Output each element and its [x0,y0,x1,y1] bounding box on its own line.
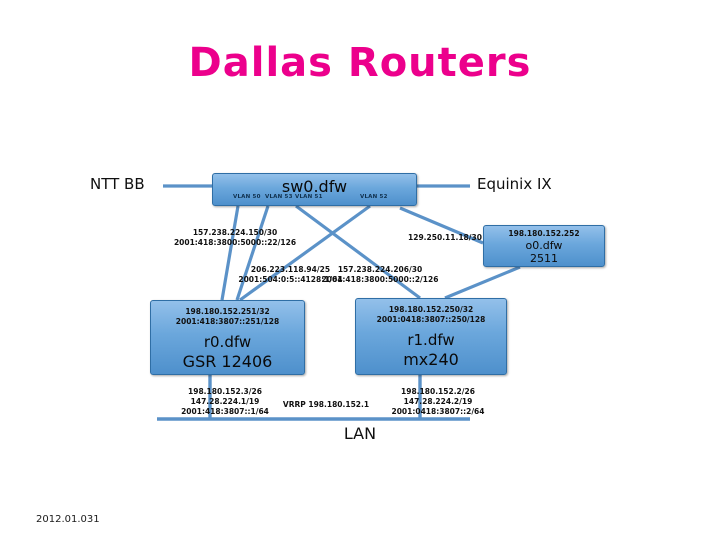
lan-label: LAN [0,424,720,443]
vlan-label-50: VLAN 50 [233,194,261,200]
lan-annotation-r1: 198.180.152.2/26 147.28.224.2/19 2001:04… [368,387,508,417]
link-annotation-ntt-bb-ipv4: 157.238.224.150/30 [165,228,305,238]
lan-annotation-r1-ipv4: 198.180.152.2/26 [368,387,508,397]
node-r1-name: r1.dfw [356,331,506,350]
link-annotation-ntt-bb-2: 157.238.224.206/30 2001:418:3800:5000::2… [315,265,445,285]
link-annotation-ntt-bb-2-ipv4: 157.238.224.206/30 [315,265,445,275]
node-sw0-dfw[interactable]: sw0.dfw VLAN 50 VLAN 53 VLAN 51 VLAN 52 [212,173,417,206]
vlan-label-52: VLAN 52 [360,194,388,200]
node-r1-ip-block: 198.180.152.250/32 2001:0418:3807::250/1… [356,299,506,325]
node-r0-ipv4: 198.180.152.251/32 [151,307,304,317]
link-annotation-ntt-bb: 157.238.224.150/30 2001:418:3800:5000::2… [165,228,305,248]
slide-canvas: Dallas Routers NTT BB Eq [0,0,720,540]
node-r0-ip-block: 198.180.152.251/32 2001:418:3807::251/12… [151,301,304,327]
node-r1-dfw[interactable]: 198.180.152.250/32 2001:0418:3807::250/1… [355,298,507,375]
vlan-label-51: VLAN 51 [295,194,323,200]
node-r1-ipv6: 2001:0418:3807::250/128 [356,315,506,325]
node-r0-model: GSR 12406 [151,352,304,372]
link-annotation-console-ipv4: 129.250.11.18/30 [397,233,493,243]
vlan-port-row: VLAN 50 VLAN 53 VLAN 51 VLAN 52 [213,194,418,206]
link-r1-to-o0 [445,267,520,298]
footer-date: 2012.01.031 [36,514,100,525]
node-o0-dfw[interactable]: 198.180.152.252 o0.dfw 2511 [483,225,605,267]
node-r0-dfw[interactable]: 198.180.152.251/32 2001:418:3807::251/12… [150,300,305,375]
lan-annotation-r1-ipv4-b: 147.28.224.2/19 [368,397,508,407]
node-r1-ipv4: 198.180.152.250/32 [356,305,506,315]
link-vlan50-to-r0 [222,206,238,300]
node-r0-ipv6: 2001:418:3807::251/128 [151,317,304,327]
link-annotation-ntt-bb-2-ipv6: 2001:418:3800:5000::2/126 [315,275,445,285]
node-o0-name: o0.dfw [484,239,604,252]
lan-annotation-r1-ipv6: 2001:0418:3807::2/64 [368,407,508,417]
lan-annotation-vrrp: VRRP 198.180.152.1 [272,400,380,410]
link-annotation-console: 129.250.11.18/30 [397,233,493,243]
link-vlan52-to-r0 [240,206,370,300]
vlan-label-53: VLAN 53 [265,194,293,200]
node-o0-model: 2511 [484,252,604,265]
external-label-equinix-ix: Equinix IX [477,175,552,193]
lan-annotation-r0-ipv4: 198.180.152.3/26 [160,387,290,397]
node-o0-ip: 198.180.152.252 [484,226,604,239]
external-label-ntt-bb: NTT BB [90,175,145,193]
lan-annotation-r0: 198.180.152.3/26 147.28.224.1/19 2001:41… [160,387,290,417]
lan-annotation-r0-ipv4-b: 147.28.224.1/19 [160,397,290,407]
node-r0-name: r0.dfw [151,333,304,352]
lan-annotation-r0-ipv6: 2001:418:3807::1/64 [160,407,290,417]
link-annotation-ntt-bb-ipv6: 2001:418:3800:5000::22/126 [165,238,305,248]
node-r1-model: mx240 [356,350,506,370]
link-vlan53-to-r0 [237,206,268,300]
